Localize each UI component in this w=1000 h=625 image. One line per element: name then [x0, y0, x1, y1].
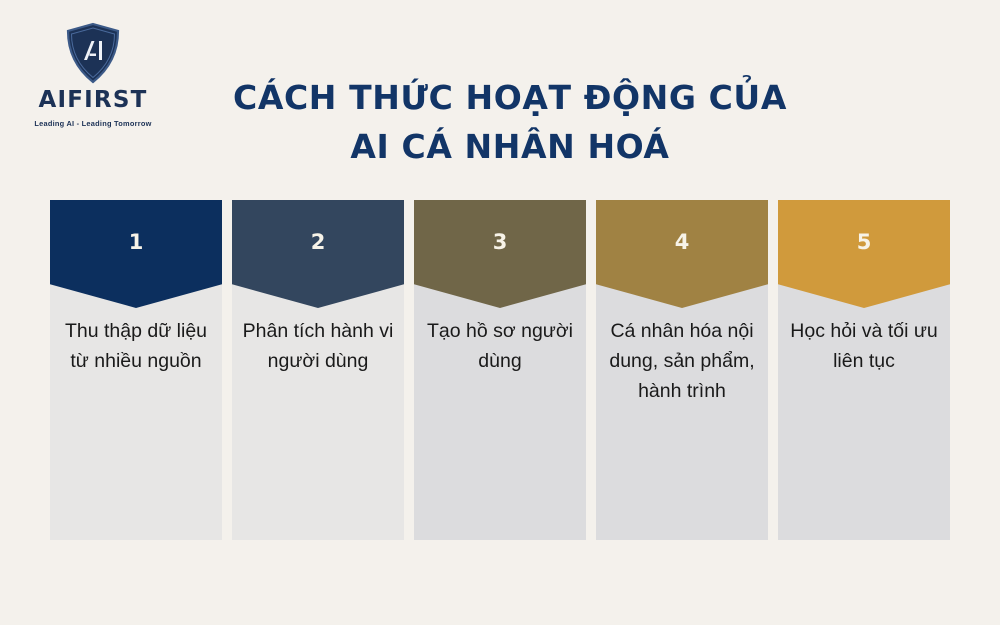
step-number-3: 3 [493, 230, 508, 254]
brand-wordmark: AIFIRST [39, 89, 148, 112]
step-label-2: Phân tích hành vi người dùng [242, 316, 394, 376]
step-number-5: 5 [857, 230, 872, 254]
page-title-line-2: AI CÁ NHÂN HOÁ [190, 123, 830, 172]
step-label-4: Cá nhân hóa nội dung, sản phẩm, hành trì… [606, 316, 758, 407]
step-card-3[interactable]: Tạo hồ sơ người dùng 3 [414, 200, 586, 540]
step-card-5[interactable]: Học hỏi và tối ưu liên tục 5 [778, 200, 950, 540]
step-card-2[interactable]: Phân tích hành vi người dùng 2 [232, 200, 404, 540]
shield-ai-icon [65, 22, 121, 84]
page-title-line-1: CÁCH THỨC HOẠT ĐỘNG CỦA [190, 74, 830, 123]
brand-tagline: Leading AI - Leading Tomorrow [34, 119, 151, 128]
step-number-1: 1 [129, 230, 144, 254]
step-card-1[interactable]: Thu thập dữ liệu từ nhiều nguồn 1 [50, 200, 222, 540]
step-label-3: Tạo hồ sơ người dùng [424, 316, 576, 376]
steps-row: Thu thập dữ liệu từ nhiều nguồn 1 Phân t… [50, 200, 950, 540]
page-title: CÁCH THỨC HOẠT ĐỘNG CỦA AI CÁ NHÂN HOÁ [190, 74, 830, 172]
step-number-2: 2 [311, 230, 326, 254]
brand-logo: AIFIRST Leading AI - Leading Tomorrow [18, 22, 168, 134]
step-number-4: 4 [675, 230, 690, 254]
step-label-1: Thu thập dữ liệu từ nhiều nguồn [60, 316, 212, 376]
step-card-4[interactable]: Cá nhân hóa nội dung, sản phẩm, hành trì… [596, 200, 768, 540]
step-label-5: Học hỏi và tối ưu liên tục [788, 316, 940, 376]
